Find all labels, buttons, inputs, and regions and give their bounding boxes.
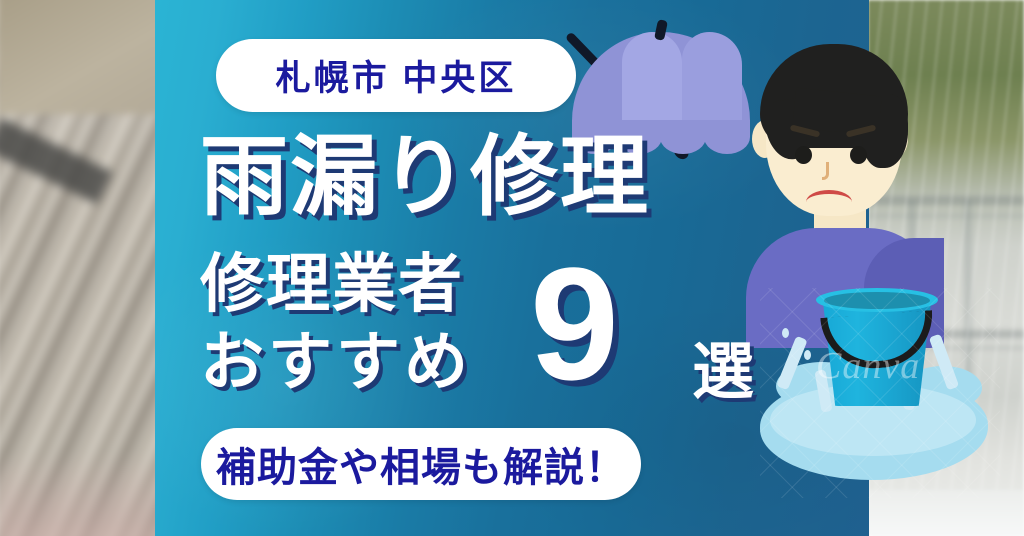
water-drop-1	[782, 328, 789, 338]
canva-watermark: Canva	[816, 344, 920, 388]
umbrella-panel-b	[682, 32, 742, 128]
banner-canvas: Canva 札幌市 中央区 雨漏り修理 修理業者 おすすめ 9 選 補助金や相場…	[0, 0, 1024, 536]
location-badge: 札幌市 中央区	[216, 39, 576, 112]
location-badge-label: 札幌市 中央区	[276, 50, 517, 101]
count-number: 9	[530, 244, 619, 404]
bucket-interior	[824, 292, 930, 309]
leaking-bucket-illustration: Canva	[760, 288, 1000, 498]
umbrella-panel-a	[622, 32, 682, 128]
eye-left	[795, 146, 812, 164]
subheadline-line-1: 修理業者	[200, 252, 464, 316]
roof-lower-shadow	[0, 453, 163, 536]
subheadline-line-2: おすすめ	[200, 330, 472, 394]
count-suffix-label: 選	[692, 342, 754, 404]
frowning-mouth	[806, 190, 852, 214]
main-headline: 雨漏り修理	[200, 133, 650, 221]
eye-right	[850, 146, 867, 164]
water-drop-2	[804, 350, 811, 360]
roof-upper-shingles	[0, 0, 163, 114]
worried-man-illustration	[742, 40, 942, 300]
footer-badge-label: 補助金や相場も解説！	[216, 435, 626, 493]
nose	[822, 162, 829, 180]
umbrella-scallop-3	[660, 120, 706, 154]
footer-badge: 補助金や相場も解説！	[201, 428, 641, 500]
left-roof-photo	[0, 0, 163, 536]
